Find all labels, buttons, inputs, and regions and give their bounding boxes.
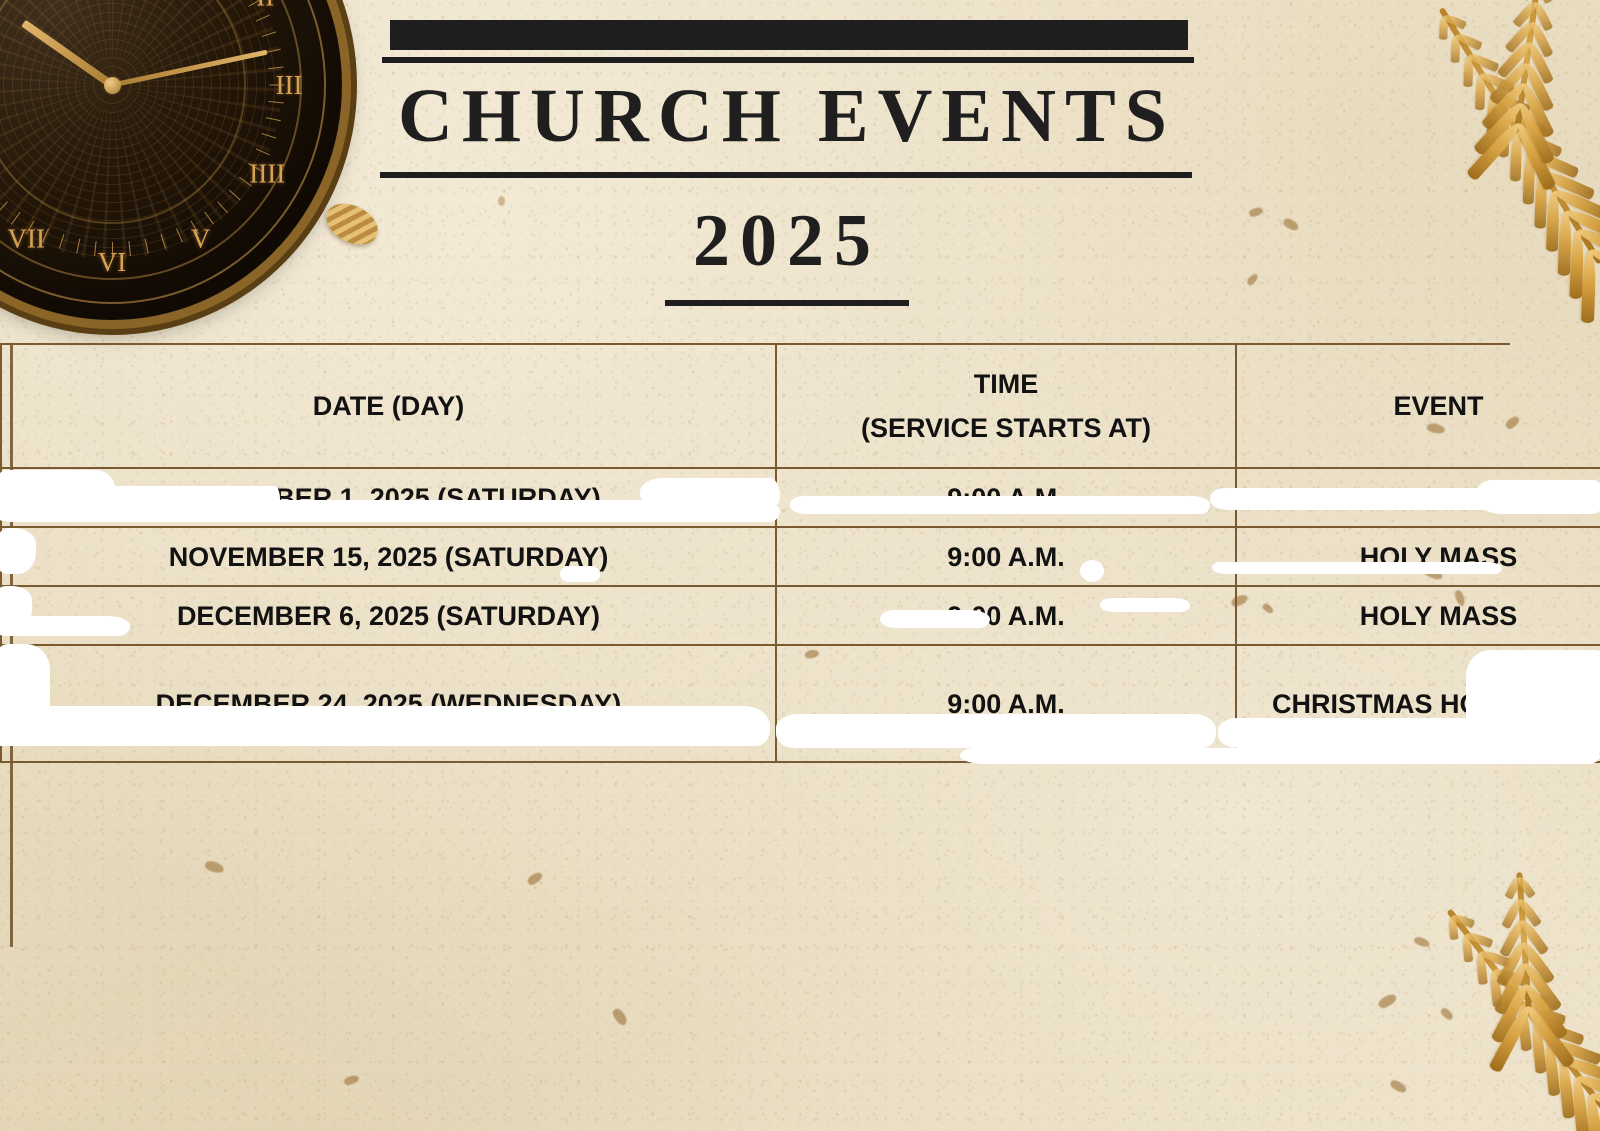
wheat-sprig-bottom-right: [1380, 790, 1600, 1130]
column-header-time-label: TIME: [787, 362, 1225, 406]
column-header-time-sublabel: (SERVICE STARTS AT): [787, 406, 1225, 450]
table-row: DECEMBER 24, 2025 (WEDNESDAY) 9:00 A.M. …: [1, 645, 1600, 762]
title-top-thick-rule: [390, 20, 1188, 50]
cell-date: NOVEMBER 15, 2025 (SATURDAY): [1, 527, 776, 586]
cell-date: DECEMBER 6, 2025 (SATURDAY): [1, 586, 776, 645]
wheat-barb: [1546, 192, 1560, 253]
column-header-event: EVENT: [1236, 344, 1600, 468]
cell-date: NOVEMBER 1, 2025 (SATURDAY): [1, 468, 776, 527]
cell-event: HOLY MASS: [1236, 527, 1600, 586]
wheat-barb: [1520, 0, 1542, 2]
table-row: NOVEMBER 15, 2025 (SATURDAY) 9:00 A.M. H…: [1, 527, 1600, 586]
wheat-sprig-top-right: [1300, 0, 1600, 290]
column-header-date: DATE (DAY): [1, 344, 776, 468]
cell-event: HOLY MASS: [1236, 468, 1600, 527]
page-title: CHURCH EVENTS: [380, 72, 1194, 160]
schedule-table-body: NOVEMBER 1, 2025 (SATURDAY) 9:00 A.M. HO…: [1, 468, 1600, 762]
table-row: DECEMBER 6, 2025 (SATURDAY) 9:00 A.M. HO…: [1, 586, 1600, 645]
event-header-top-rule: [1235, 343, 1510, 345]
cell-time: 9:00 A.M.: [776, 527, 1236, 586]
column-header-time: TIME (SERVICE STARTS AT): [776, 344, 1236, 468]
cell-event: HOLY MASS: [1236, 586, 1600, 645]
cell-time: 9:00 A.M.: [776, 586, 1236, 645]
column-header-date-label: DATE (DAY): [313, 391, 465, 421]
year-underline-rule: [665, 300, 909, 306]
cell-time: 9:00 A.M.: [776, 645, 1236, 762]
column-header-event-label: EVENT: [1393, 391, 1483, 421]
title-bottom-rule: [380, 172, 1192, 178]
table-header-row: DATE (DAY) TIME (SERVICE STARTS AT) EVEN…: [1, 344, 1600, 468]
church-events-poster: XIIIIIIIIIIIIVVIVIIVIIIIXXXI CHURCH EVEN…: [0, 0, 1600, 1131]
cell-event: CHRISTMAS HOLY MASS.: [1236, 645, 1600, 762]
page-title-year: 2025: [380, 196, 1194, 286]
schedule-table: DATE (DAY) TIME (SERVICE STARTS AT) EVEN…: [0, 343, 1600, 763]
table-row: NOVEMBER 1, 2025 (SATURDAY) 9:00 A.M. HO…: [1, 468, 1600, 527]
wheat-barb: [1463, 55, 1473, 87]
wheat-barb: [1475, 75, 1486, 111]
schedule-table-wrapper: DATE (DAY) TIME (SERVICE STARTS AT) EVEN…: [0, 343, 1600, 763]
cell-date: DECEMBER 24, 2025 (WEDNESDAY): [1, 645, 776, 762]
cell-time: 9:00 A.M.: [776, 468, 1236, 527]
title-top-thin-rule: [382, 57, 1194, 63]
